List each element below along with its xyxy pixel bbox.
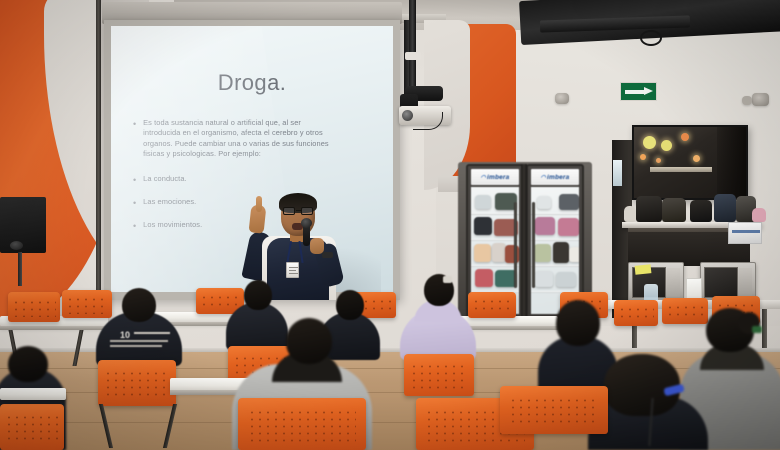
bullet-marker-icon: •	[133, 220, 136, 231]
box-label	[732, 230, 760, 233]
pink-bag	[752, 208, 766, 222]
chair[interactable]	[8, 292, 60, 322]
slide-bullet-text: Es toda sustancia natural o artificial q…	[143, 118, 339, 160]
slide-bullet-text: La conducta.	[143, 174, 187, 185]
backpack	[636, 196, 662, 222]
slide-bullet: • La conducta.	[133, 174, 379, 185]
wall-sensor-icon	[752, 93, 769, 106]
display-image-counter	[650, 167, 713, 172]
wall-sensor-bracket-icon	[742, 96, 752, 105]
refrigerator-brand-plate: imbera	[471, 169, 519, 185]
hair-clip	[443, 276, 452, 283]
wall-sensor-icon	[555, 93, 569, 104]
chair[interactable]	[238, 398, 366, 450]
presenter-index-finger	[256, 196, 262, 212]
projector-mount-pole	[409, 0, 416, 92]
backpack	[714, 194, 736, 222]
hair-clip	[752, 326, 762, 333]
wall-speaker	[0, 197, 46, 253]
slide-bullet: • Es toda sustancia natural o artificial…	[133, 118, 379, 160]
slide-title: Droga.	[111, 70, 393, 96]
imbera-logo: imbera	[481, 174, 510, 181]
ceiling-cable-loop-icon	[640, 30, 662, 46]
wristwatch	[322, 252, 333, 258]
chair[interactable]	[500, 386, 608, 434]
backpack	[662, 198, 686, 222]
presenter-glasses-icon	[283, 207, 313, 215]
refrigerator-handle[interactable]	[532, 202, 535, 288]
id-badge	[286, 262, 299, 278]
sticky-note	[635, 264, 652, 275]
speaker-cone-icon	[10, 241, 23, 250]
chair[interactable]	[614, 300, 658, 326]
bullet-marker-icon: •	[133, 197, 136, 208]
microwave-control-panel[interactable]	[667, 268, 680, 297]
refrigerator-handle[interactable]	[514, 202, 517, 288]
chair[interactable]	[468, 292, 516, 318]
exit-sign	[620, 82, 657, 101]
table-edge	[0, 326, 108, 330]
wall-mounted-display	[632, 125, 748, 200]
microwave-door[interactable]	[704, 267, 738, 298]
storage-box	[728, 222, 762, 244]
table-leg	[762, 309, 767, 349]
refrigerator-brand-plate: imbera	[531, 169, 579, 185]
chair[interactable]	[662, 298, 708, 324]
chair[interactable]	[0, 404, 64, 450]
projector-mount-collar	[405, 52, 421, 60]
chair[interactable]	[62, 290, 112, 318]
microwave-control-panel[interactable]	[739, 268, 752, 297]
chair[interactable]	[98, 360, 176, 406]
shirt-print: 10	[120, 330, 132, 339]
bullet-marker-icon: •	[133, 174, 136, 185]
bullet-marker-icon: •	[133, 118, 136, 160]
slide-bullet-text: Las emociones.	[143, 197, 196, 208]
microphone-head-icon	[301, 218, 312, 228]
slide-bullet-text: Los movimientos.	[143, 220, 202, 231]
cabinet-light-panel	[613, 160, 622, 186]
table	[0, 388, 66, 400]
display-screen	[634, 127, 746, 198]
chair[interactable]	[404, 354, 474, 396]
white-item	[624, 206, 636, 222]
projector-lens-icon	[402, 110, 413, 121]
speaker-stand	[18, 252, 22, 286]
refrigerator-divider	[521, 164, 527, 319]
exit-arrow-icon	[625, 87, 653, 96]
imbera-logo: imbera	[541, 174, 570, 181]
display-image-shadow	[717, 127, 746, 198]
wall-divider-column	[96, 0, 101, 300]
classroom-photo: Droga. • Es toda sustancia natural o art…	[0, 0, 780, 450]
backpack	[690, 200, 712, 222]
